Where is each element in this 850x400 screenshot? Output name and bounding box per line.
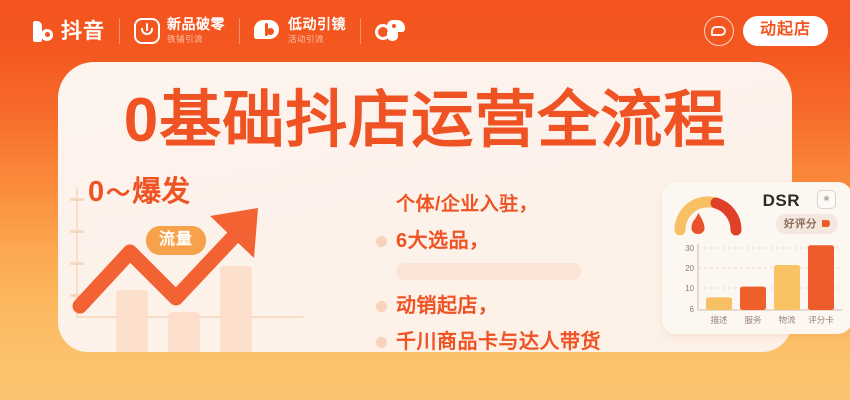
logo-divider [239, 18, 240, 44]
logo-activity-traffic[interactable]: 低动引镜 活动引流 [254, 17, 346, 44]
list-item-label: 6大选品， [396, 230, 490, 252]
logo-activity-sublabel: 活动引流 [288, 34, 346, 45]
bullet-dot [376, 337, 387, 348]
logo-cp-mark[interactable] [375, 18, 407, 44]
header-right-cluster: 动起店 [704, 0, 828, 62]
rating-chip-label: 好评分 [784, 216, 817, 231]
rounded-square-smile-icon [134, 18, 160, 44]
dsr-card: DSR ✷ 好评分 30 20 10 6 [662, 182, 850, 334]
gauge-icon [672, 188, 744, 236]
bar-rating-card [808, 245, 834, 310]
logo-new-product-breakthrough[interactable]: 新品破零 铁铺引流 [134, 17, 225, 44]
logo-douyin-label: 抖音 [61, 21, 105, 42]
logo-divider [360, 18, 361, 44]
list-item: 6大选品， [376, 226, 646, 256]
header-bar: 抖音 新品破零 铁铺引流 低动引镜 活动引流 [0, 0, 850, 62]
flag-icon [822, 220, 830, 227]
brand-logo-row: 抖音 新品破零 铁铺引流 低动引镜 活动引流 [0, 17, 407, 44]
gauge-needle-icon [692, 218, 705, 234]
illustration-title-tilde: ～ [104, 180, 132, 207]
list-item-label: 动销起店， [396, 295, 499, 317]
logo-douyin[interactable]: 抖音 [30, 19, 105, 44]
logo-activity-label: 低动引镜 [288, 17, 346, 32]
logo-new-product-sublabel: 铁铺引流 [167, 34, 225, 45]
feature-list: 个体/企业入驻， 6大选品， 动销起店， 千川商品卡与达人带货 [376, 190, 646, 363]
bullet-dot [376, 236, 387, 247]
traffic-badge: 流量 [146, 226, 206, 255]
bar-logistics [774, 265, 800, 310]
chat-circle-icon [704, 16, 734, 46]
rating-chip[interactable]: 好评分 [776, 214, 838, 234]
open-store-button[interactable]: 动起店 [743, 16, 828, 45]
y-tick-10: 10 [685, 284, 694, 293]
y-tick-20: 20 [685, 264, 694, 273]
douyin-note-icon [30, 19, 55, 44]
x-label-rating-card: 评分卡 [808, 315, 834, 325]
content-card: 0基础抖店运营全流程 0～爆发 流量 个体/ [58, 62, 792, 352]
list-item-label: 个体/企业入驻， [396, 195, 538, 216]
x-label-describe: 描述 [710, 315, 728, 325]
illustration-title-word: 爆发 [132, 176, 190, 208]
list-item: 个体/企业入驻， [376, 190, 646, 220]
illustration-title: 0～爆发 [88, 178, 190, 207]
dsr-bar-chart: 30 20 10 6 描述 服务 物流 评分卡 [670, 238, 846, 330]
placeholder-bar [396, 263, 581, 280]
y-tick-30: 30 [685, 244, 694, 253]
page-title: 0基础抖店运营全流程 [58, 90, 792, 152]
y-tick-6: 6 [690, 305, 695, 314]
list-item: 千川商品卡与达人带货 [376, 327, 646, 357]
cp-mark-icon [375, 18, 407, 44]
bar-describe [706, 297, 732, 310]
bullet-dot [376, 301, 387, 312]
list-item: 动销起店， [376, 291, 646, 321]
illustration-title-num: 0 [88, 176, 104, 208]
x-label-service: 服务 [744, 315, 762, 325]
logo-divider [119, 18, 120, 44]
logo-new-product-label: 新品破零 [167, 17, 225, 32]
x-label-logistics: 物流 [778, 315, 796, 325]
bar-service [740, 287, 766, 310]
speech-bubble-icon [254, 19, 281, 43]
list-item-label: 千川商品卡与达人带货 [396, 331, 601, 353]
dsr-title: DSR [763, 191, 800, 211]
star-icon[interactable]: ✷ [817, 190, 836, 209]
promo-banner: 抖音 新品破零 铁铺引流 低动引镜 活动引流 [0, 0, 850, 400]
growth-illustration: 0～爆发 流量 [58, 180, 320, 352]
